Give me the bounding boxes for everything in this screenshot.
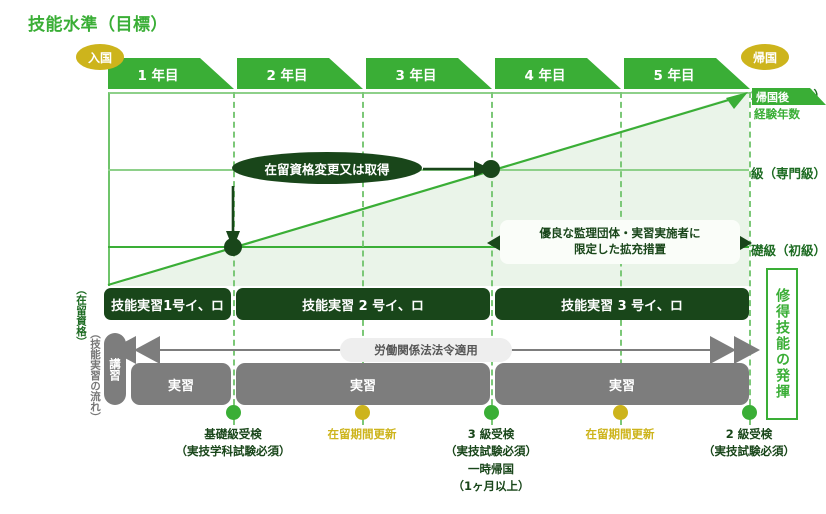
- status-bar-2: 技能実習 2 号イ、ロ: [236, 288, 490, 320]
- milestone-dot-4: [613, 405, 628, 420]
- year-ribbon-label: 5 年目: [653, 64, 694, 84]
- milestone-dot-5: [742, 405, 757, 420]
- practice-box-2: 実習: [236, 363, 490, 405]
- milestone-caption-line: （実技試験必須）: [659, 443, 826, 460]
- year-ribbon-4: 4 年目: [495, 58, 621, 89]
- labor-law-arrow-left-icon-2: [134, 336, 160, 364]
- diagram-root: 技能水準（目標） 2 級（上級） 3 級（専門級） 基礎級（初級） 1 年目 2…: [0, 0, 826, 514]
- practice-box-1: 実習: [131, 363, 231, 405]
- after-return-years: 経験年数: [752, 106, 826, 122]
- labor-law-arrow-right-icon: [710, 336, 736, 364]
- year-ribbon-2: 2 年目: [237, 58, 363, 89]
- skill-demonstration-box: 修得技能の発揮: [766, 268, 798, 420]
- status-bar-1: 技能実習1号イ、ロ: [104, 288, 231, 320]
- milestone-caption-line: 一時帰国: [401, 461, 581, 478]
- expansion-measure-box: 優良な監理団体・実習実施者に 限定した拡充措置: [500, 220, 740, 264]
- milestone-caption-5: 2 級受検 （実技試験必須）: [659, 426, 826, 461]
- gridline-level-3: [108, 169, 749, 171]
- status-change-callout: 在留資格変更又は取得: [232, 152, 422, 184]
- milestone-caption-line: （実技試験必須）: [401, 443, 581, 460]
- year-ribbon-3: 3 年目: [366, 58, 492, 89]
- after-return-ribbon: 帰国後: [752, 88, 826, 105]
- year-divider-3: [491, 92, 493, 425]
- status-bar-3: 技能実習 3 号イ、ロ: [495, 288, 749, 320]
- return-badge: 帰国: [741, 44, 789, 70]
- year-ribbon-label: 4 年目: [524, 64, 565, 84]
- entry-badge: 入国: [76, 44, 124, 70]
- practice-box-3: 実習: [495, 363, 749, 405]
- milestone-dot-1: [226, 405, 241, 420]
- year-divider-1: [233, 92, 235, 425]
- page-title: 技能水準（目標）: [28, 10, 168, 35]
- after-return-label: 帰国後 経験年数: [752, 88, 826, 122]
- year-divider-5: [749, 92, 751, 425]
- labor-law-label: 労働関係法法令適用: [340, 338, 512, 362]
- lecture-capsule: 講習: [104, 333, 126, 405]
- expansion-measure-line1: 優良な監理団体・実習実施者に: [540, 226, 701, 242]
- milestone-dot-3: [484, 405, 499, 420]
- expansion-measure-line2: 限定した拡充措置: [540, 242, 701, 258]
- milestone-caption-line: （1ヶ月以上）: [401, 478, 581, 495]
- year-ribbon-label: 1 年目: [137, 64, 178, 84]
- caption-training-flow: （技能実習の流れ）: [88, 328, 103, 423]
- caption-residence-status: （在留資格）: [74, 284, 89, 347]
- year-ribbon-label: 2 年目: [266, 64, 307, 84]
- milestone-caption-line: （実技学科試験必須）: [143, 443, 323, 460]
- year-ribbon-1: 1 年目: [108, 58, 234, 89]
- year-ribbon-5: 5 年目: [624, 58, 750, 89]
- milestone-dot-2: [355, 405, 370, 420]
- labor-law-arrow-right-icon-2: [734, 336, 760, 364]
- year-ribbon-label: 3 年目: [395, 64, 436, 84]
- milestone-caption-line: 2 級受検: [659, 426, 826, 443]
